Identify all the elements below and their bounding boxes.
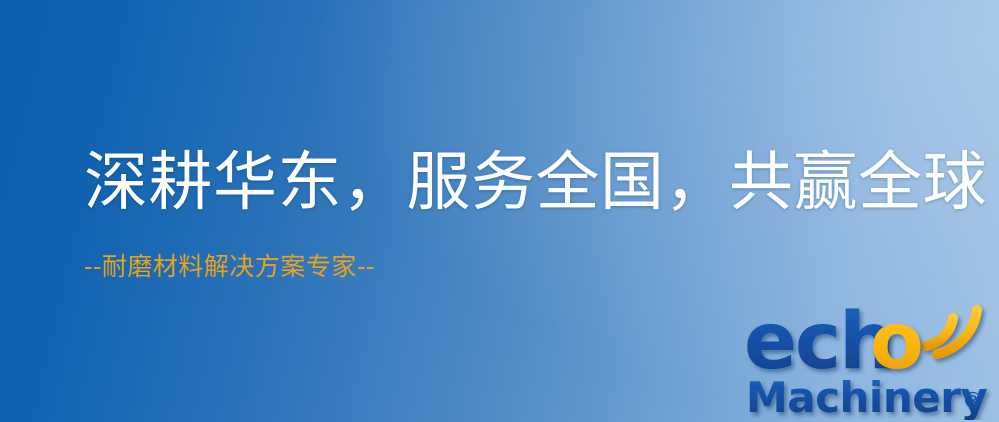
logo-tagline: Machinery — [746, 373, 987, 420]
banner-subtitle: --耐磨材料解决方案专家-- — [84, 252, 987, 282]
logo-registered-mark: ® — [962, 389, 984, 414]
echo-wave-arcs-icon — [926, 310, 977, 354]
company-logo[interactable]: ech o Machinery ® — [744, 296, 996, 420]
banner-headline: 深耕华东，服务全国，共赢全球 — [84, 148, 987, 220]
banner-text-block: 深耕华东，服务全国，共赢全球 --耐磨材料解决方案专家-- — [84, 148, 987, 282]
hero-banner: 深耕华东，服务全国，共赢全球 --耐磨材料解决方案专家-- — [0, 0, 999, 422]
